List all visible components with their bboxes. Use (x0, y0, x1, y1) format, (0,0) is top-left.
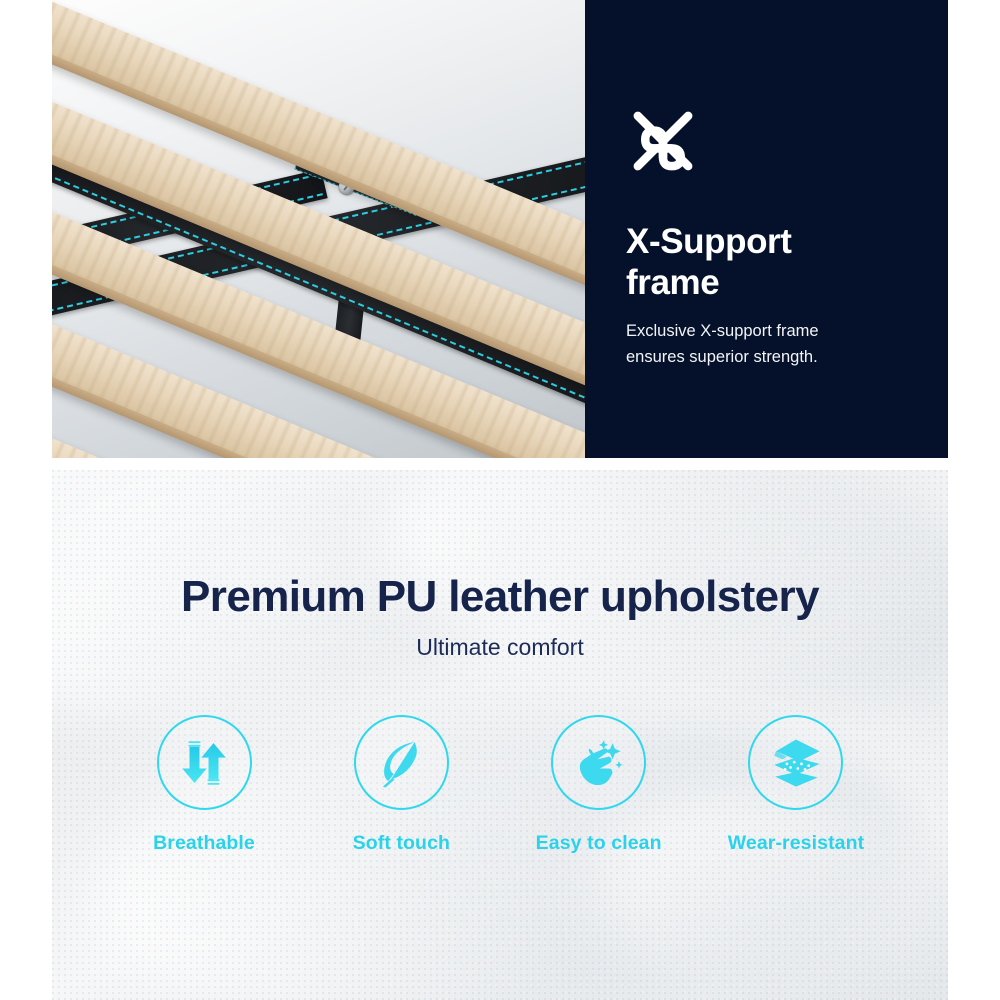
feather-icon (372, 734, 430, 792)
pu-leather-title: Premium PU leather upholstery (52, 470, 948, 622)
stacked-layers-icon (767, 734, 825, 792)
x-support-info-panel: X-Support frame Exclusive X-support fram… (585, 0, 948, 458)
bed-slat-frame-photo (52, 0, 585, 458)
x-support-frame-section: X-Support frame Exclusive X-support fram… (52, 0, 948, 458)
feature-icon-circle (354, 715, 449, 810)
product-feature-page: X-Support frame Exclusive X-support fram… (0, 0, 1000, 1000)
breathable-arrows-icon (175, 734, 233, 792)
feature-label: Easy to clean (509, 832, 689, 855)
feature-icon-circle (748, 715, 843, 810)
pu-leather-section: Premium PU leather upholstery Ultimate c… (52, 470, 948, 1000)
pu-leather-subtitle: Ultimate comfort (52, 634, 948, 661)
feature-label: Soft touch (311, 832, 491, 855)
pu-leather-content: Premium PU leather upholstery Ultimate c… (52, 470, 948, 855)
x-support-frame-icon (626, 104, 700, 178)
feature-list: Breathable Soft touch (114, 715, 886, 855)
wiping-hand-icon (570, 734, 628, 792)
feature-item-easy-to-clean: Easy to clean (509, 715, 689, 855)
feature-icon-circle (551, 715, 646, 810)
feature-item-breathable: Breathable (114, 715, 294, 855)
feature-item-wear-resistant: Wear-resistant (706, 715, 886, 855)
feature-icon-circle (157, 715, 252, 810)
feature-label: Breathable (114, 832, 294, 855)
feature-item-soft-touch: Soft touch (311, 715, 491, 855)
feature-label: Wear-resistant (706, 832, 886, 855)
x-support-title: X-Support frame (626, 222, 914, 303)
x-support-description: Exclusive X-support frame ensures superi… (626, 319, 914, 370)
